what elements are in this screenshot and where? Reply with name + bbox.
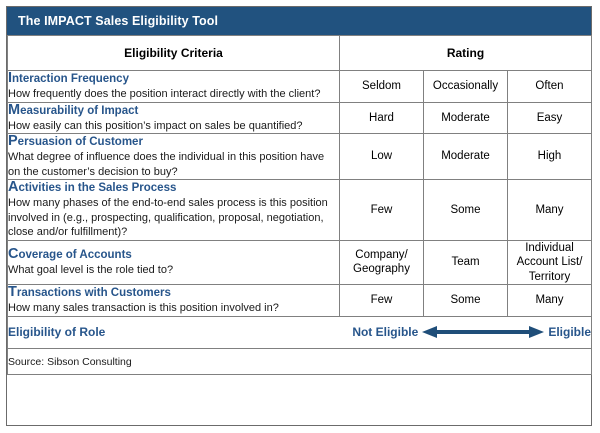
rating-mid: Some (424, 180, 508, 241)
criteria-title: Activities in the Sales Process (8, 180, 339, 195)
eligibility-left-label: Not Eligible (352, 325, 418, 339)
rating-low: Few (340, 285, 424, 317)
criteria-initial: A (8, 179, 18, 195)
criteria-description: What degree of influence does the indivi… (8, 150, 339, 179)
source-cell: Source: Sibson Consulting (8, 348, 592, 374)
eligibility-summary-cell: Eligibility of Role Not Eligible Eligi (8, 316, 592, 348)
criteria-cell: Transactions with Customers How many sal… (8, 285, 340, 317)
criteria-title-rest: ransactions with Customers (17, 287, 171, 299)
rating-low: Few (340, 180, 424, 241)
rating-low: Hard (340, 102, 424, 134)
criteria-title-rest: easurability of Impact (20, 105, 138, 117)
rating-mid: Some (424, 285, 508, 317)
criteria-description: How many phases of the end-to-end sales … (8, 196, 339, 240)
rating-high: Easy (508, 102, 592, 134)
table-header-row: Eligibility Criteria Rating (8, 36, 592, 71)
criteria-title: Persuasion of Customer (8, 134, 339, 149)
criteria-title: Coverage of Accounts (8, 247, 339, 262)
eligibility-matrix: Eligibility Criteria Rating Interaction … (7, 35, 592, 375)
criteria-title: Interaction Frequency (8, 71, 339, 86)
criteria-title: Transactions with Customers (8, 285, 339, 300)
table-row: Interaction Frequency How frequently doe… (8, 71, 592, 103)
rating-high: Many (508, 285, 592, 317)
criteria-title-rest: ctivities in the Sales Process (18, 182, 176, 194)
title-bar: The IMPACT Sales Eligibility Tool (7, 7, 591, 35)
double-headed-arrow-icon (422, 325, 544, 339)
eligibility-label: Eligibility of Role (8, 325, 105, 339)
page-title: The IMPACT Sales Eligibility Tool (18, 14, 218, 28)
criteria-title-rest: ersuasion of Customer (18, 136, 143, 148)
eligibility-scale: Not Eligible Eligible (352, 325, 591, 339)
source-text: Source: Sibson Consulting (8, 356, 132, 368)
source-row: Source: Sibson Consulting (8, 348, 592, 374)
table-row: Transactions with Customers How many sal… (8, 285, 592, 317)
criteria-initial: M (8, 102, 20, 118)
table-row: Measurability of Impact How easily can t… (8, 102, 592, 134)
column-header-criteria: Eligibility Criteria (8, 36, 340, 71)
rating-low: Low (340, 134, 424, 180)
rating-mid: Occasionally (424, 71, 508, 103)
criteria-cell: Interaction Frequency How frequently doe… (8, 71, 340, 103)
eligibility-right-label: Eligible (548, 325, 591, 339)
rating-mid: Moderate (424, 134, 508, 180)
column-header-rating: Rating (340, 36, 592, 71)
criteria-initial: C (8, 246, 18, 262)
criteria-description: How easily can this position’s impact on… (8, 119, 339, 134)
tool-frame: The IMPACT Sales Eligibility Tool Eligib… (6, 6, 592, 426)
criteria-cell: Measurability of Impact How easily can t… (8, 102, 340, 134)
criteria-cell: Activities in the Sales Process How many… (8, 180, 340, 241)
criteria-title-rest: nteraction Frequency (12, 73, 129, 85)
rating-low: Company/ Geography (340, 240, 424, 285)
criteria-cell: Coverage of Accounts What goal level is … (8, 240, 340, 285)
criteria-initial: P (8, 133, 18, 149)
rating-mid: Moderate (424, 102, 508, 134)
criteria-initial: T (8, 284, 17, 300)
criteria-description: What goal level is the role tied to? (8, 263, 339, 278)
rating-mid: Team (424, 240, 508, 285)
rating-high: Many (508, 180, 592, 241)
eligibility-summary-row: Eligibility of Role Not Eligible Eligi (8, 316, 592, 348)
rating-low: Seldom (340, 71, 424, 103)
criteria-title-rest: overage of Accounts (18, 249, 131, 261)
criteria-description: How many sales transaction is this posit… (8, 301, 339, 316)
criteria-title: Measurability of Impact (8, 103, 339, 118)
rating-high: Individual Account List/ Territory (508, 240, 592, 285)
table-row: Activities in the Sales Process How many… (8, 180, 592, 241)
criteria-description: How frequently does the position interac… (8, 87, 339, 102)
criteria-cell: Persuasion of Customer What degree of in… (8, 134, 340, 180)
table-row: Persuasion of Customer What degree of in… (8, 134, 592, 180)
table-row: Coverage of Accounts What goal level is … (8, 240, 592, 285)
rating-high: Often (508, 71, 592, 103)
rating-high: High (508, 134, 592, 180)
